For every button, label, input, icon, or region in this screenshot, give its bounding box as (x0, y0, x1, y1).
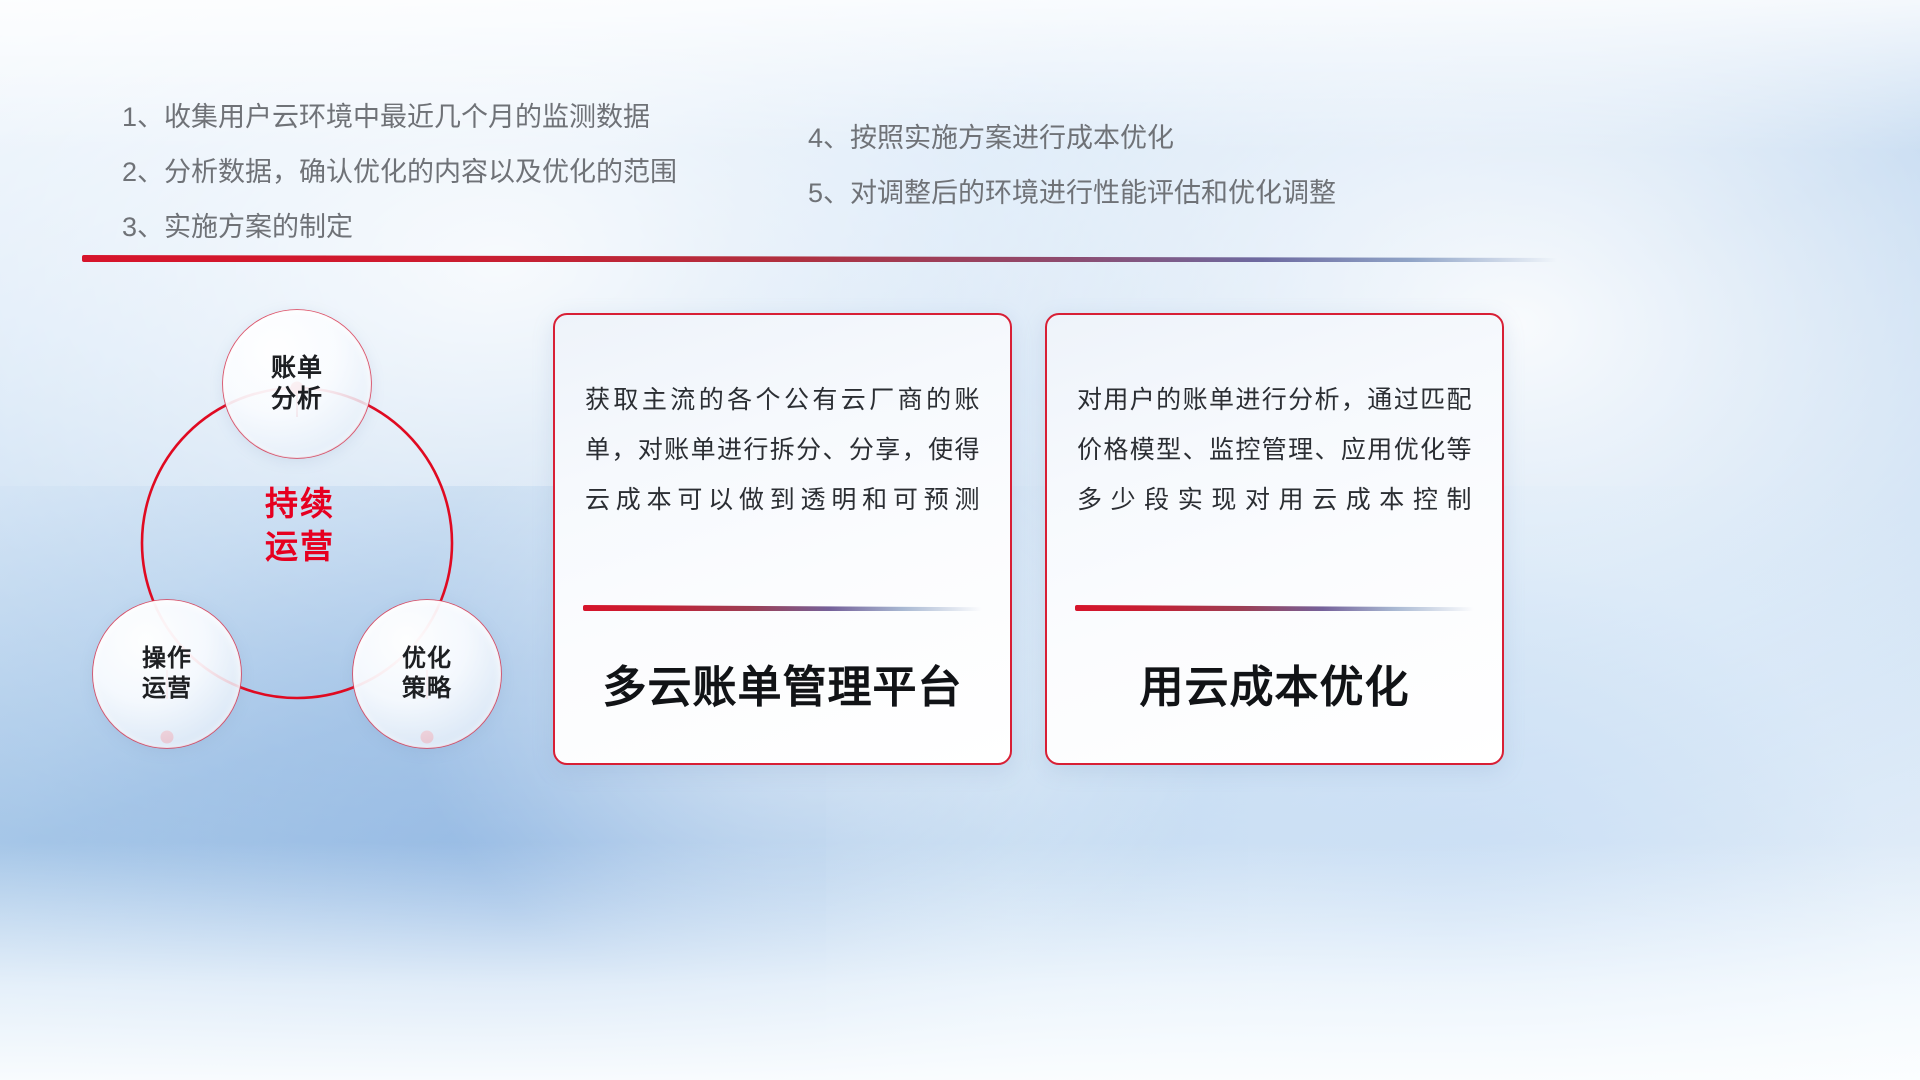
step-text-1: 收集用户云环境中最近几个月的监测数据 (164, 104, 650, 131)
bubble-bill-analysis-line2: 分析 (271, 384, 323, 416)
step-item-1: 1、 收集用户云环境中最近几个月的监测数据 (122, 104, 677, 131)
card-1-body: 获取主流的各个公有云厂商的账单，对账单进行拆分、分享，使得云成本可以做到透明和可… (585, 375, 980, 525)
step-number-3: 3、 (122, 214, 164, 241)
steps-list-right: 4、 按照实施方案进行成本优化 5、 对调整后的环境进行性能评估和优化调整 (808, 125, 1336, 207)
diagram-center-line1: 持续 (230, 483, 370, 526)
step-item-4: 4、 按照实施方案进行成本优化 (808, 125, 1336, 152)
bubble-operations-line2: 运营 (142, 674, 192, 704)
step-text-4: 按照实施方案进行成本优化 (850, 125, 1174, 152)
step-text-3: 实施方案的制定 (164, 214, 353, 241)
bubble-bill-analysis[interactable]: 账单 分析 (223, 310, 371, 458)
card-cloud-cost-optimization[interactable]: 对用户的账单进行分析，通过匹配价格模型、监控管理、应用优化等多少段实现对用云成本… (1045, 313, 1504, 765)
step-item-5: 5、 对调整后的环境进行性能评估和优化调整 (808, 180, 1336, 207)
venn-diagram: 账单 分析 操作 运营 优化 策略 持续 运营 (85, 295, 525, 765)
step-number-1: 1、 (122, 104, 164, 131)
diagram-center-line2: 运营 (230, 526, 370, 569)
bubble-bill-analysis-line1: 账单 (271, 353, 323, 385)
step-number-5: 5、 (808, 180, 850, 207)
card-2-body: 对用户的账单进行分析，通过匹配价格模型、监控管理、应用优化等多少段实现对用云成本… (1077, 375, 1472, 525)
bubble-operations-line1: 操作 (142, 644, 192, 674)
slide-canvas: 1、 收集用户云环境中最近几个月的监测数据 2、 分析数据，确认优化的内容以及优… (0, 0, 1920, 1080)
bubble-optimization-strategy-line2: 策略 (402, 674, 452, 704)
step-number-2: 2、 (122, 159, 164, 186)
bubble-optimization-strategy[interactable]: 优化 策略 (353, 600, 501, 748)
diagram-center-label: 持续 运营 (230, 483, 370, 569)
step-item-2: 2、 分析数据，确认优化的内容以及优化的范围 (122, 159, 677, 186)
card-1-title: 多云账单管理平台 (555, 651, 1010, 715)
step-text-5: 对调整后的环境进行性能评估和优化调整 (850, 180, 1336, 207)
card-multi-cloud-billing-platform[interactable]: 获取主流的各个公有云厂商的账单，对账单进行拆分、分享，使得云成本可以做到透明和可… (553, 313, 1012, 765)
bubble-operations[interactable]: 操作 运营 (93, 600, 241, 748)
card-2-title: 用云成本优化 (1047, 651, 1502, 715)
step-text-2: 分析数据，确认优化的内容以及优化的范围 (164, 159, 677, 186)
background-bottom-fade (0, 842, 1920, 1080)
bubble-optimization-strategy-line1: 优化 (402, 644, 452, 674)
step-number-4: 4、 (808, 125, 850, 152)
steps-list-left: 1、 收集用户云环境中最近几个月的监测数据 2、 分析数据，确认优化的内容以及优… (122, 104, 677, 241)
step-item-3: 3、 实施方案的制定 (122, 214, 677, 241)
